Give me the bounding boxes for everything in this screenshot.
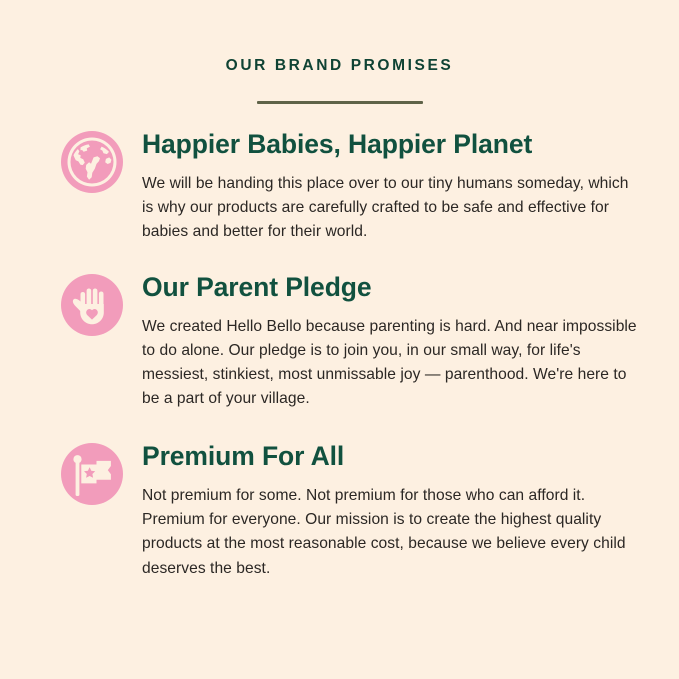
promises-list: Happier Babies, Happier Planet We will b… — [0, 128, 679, 581]
globe-icon — [60, 130, 124, 194]
promise-content: Happier Babies, Happier Planet We will b… — [142, 128, 639, 245]
brand-promises-page: OUR BRAND PROMISES — [0, 0, 679, 679]
promise-content: Premium For All Not premium for some. No… — [142, 440, 639, 581]
list-item: Happier Babies, Happier Planet We will b… — [60, 128, 639, 245]
list-item: Our Parent Pledge We created Hello Bello… — [60, 271, 639, 412]
promise-content: Our Parent Pledge We created Hello Bello… — [142, 271, 639, 412]
promise-description: Not premium for some. Not premium for th… — [142, 484, 639, 581]
divider-rule — [257, 101, 423, 104]
promise-description: We created Hello Bello because parenting… — [142, 315, 639, 412]
page-title: OUR BRAND PROMISES — [0, 57, 679, 76]
page-header: OUR BRAND PROMISES — [0, 0, 679, 104]
list-item: Premium For All Not premium for some. No… — [60, 440, 639, 581]
flag-star-icon — [60, 442, 124, 506]
promise-title: Our Parent Pledge — [142, 272, 639, 302]
promise-title: Premium For All — [142, 441, 639, 471]
hand-heart-icon — [60, 273, 124, 337]
promise-title: Happier Babies, Happier Planet — [142, 129, 639, 159]
divider-container — [0, 101, 679, 104]
promise-description: We will be handing this place over to ou… — [142, 172, 639, 244]
